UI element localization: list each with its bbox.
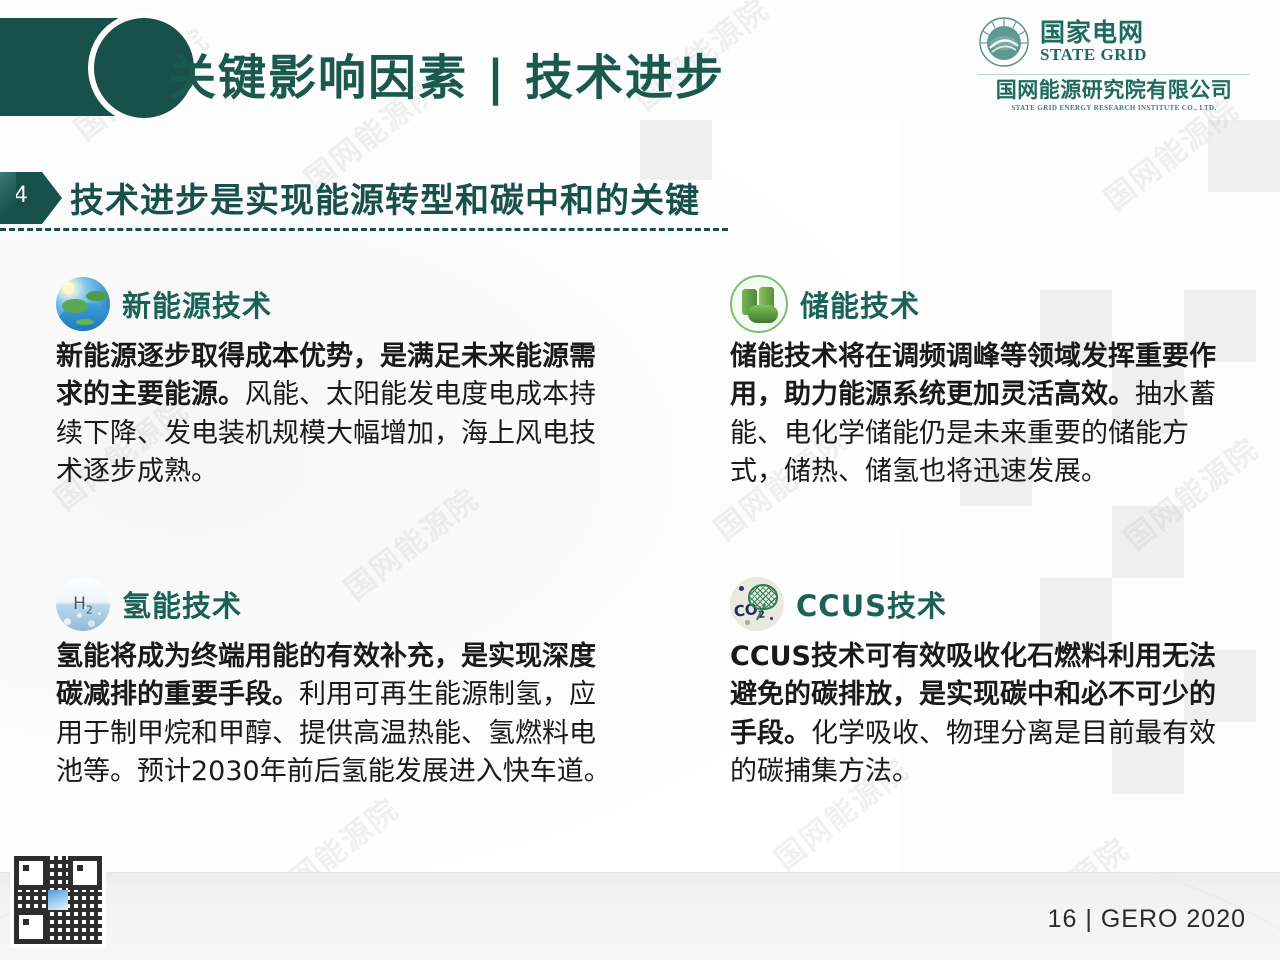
qr-finder-bottom-left — [14, 910, 48, 944]
qr-finder-top-right — [68, 856, 102, 890]
qr-code-pattern — [14, 856, 102, 944]
card-title: 储能技术 — [800, 283, 920, 325]
brand-name-en: STATE GRID — [1040, 46, 1147, 65]
ccus-co2-net-icon: CO2 — [730, 577, 784, 631]
qr-finder-top-left — [14, 856, 48, 890]
card-hydrogen: H2 氢能技术 氢能将成为终端用能的有效补充，是实现深度碳减排的重要手段。利用可… — [56, 576, 616, 791]
battery-storage-icon — [730, 275, 788, 333]
card-title: CCUS技术 — [796, 583, 947, 625]
qr-center-image — [48, 890, 68, 910]
brand-divider — [978, 74, 1250, 75]
card-body: 氢能将成为终端用能的有效补充，是实现深度碳减排的重要手段。利用可再生能源制氢，应… — [56, 638, 616, 791]
brand-name-cn: 国家电网 — [1040, 20, 1147, 46]
card-new-energy: 新能源技术 新能源逐步取得成本优势，是满足未来能源需求的主要能源。风能、太阳能发… — [56, 276, 616, 491]
section-title: 技术进步是实现能源转型和碳中和的关键 — [70, 173, 700, 222]
qr-code[interactable] — [10, 852, 106, 948]
page-number: 16 | GERO 2020 — [1048, 905, 1246, 934]
brand-logo: 国家电网 STATE GRID 国网能源研究院有限公司 STATE GRID E… — [978, 16, 1250, 112]
slide-root: 国网能源院 国网能源院 国网能源院 国网能源院 国网能源院 国网能源院 国网能源… — [0, 0, 1280, 960]
new-energy-globe-icon — [56, 277, 110, 331]
card-body: CCUS技术可有效吸收化石燃料利用无法避免的碳排放，是实现碳中和必不可少的手段。… — [730, 638, 1240, 791]
brand-subsidiary-en: STATE GRID ENERGY RESEARCH INSTITUTE CO.… — [978, 104, 1250, 112]
section-number-badge: 4 — [0, 172, 62, 224]
section-number: 4 — [14, 181, 27, 209]
state-grid-emblem-icon — [978, 16, 1030, 68]
card-ccus: CO2 CCUS技术 CCUS技术可有效吸收化石燃料利用无法避免的碳排放，是实现… — [730, 576, 1240, 791]
brand-subsidiary-cn: 国网能源研究院有限公司 — [978, 79, 1250, 102]
card-energy-storage: 储能技术 储能技术将在调频调峰等领域发挥重要作用，助力能源系统更加灵活高效。抽水… — [730, 276, 1240, 491]
section-divider — [0, 228, 728, 231]
card-body: 新能源逐步取得成本优势，是满足未来能源需求的主要能源。风能、太阳能发电度电成本持… — [56, 338, 616, 491]
card-title: 新能源技术 — [122, 283, 272, 325]
section-heading: 4 技术进步是实现能源转型和碳中和的关键 — [0, 172, 740, 224]
card-title: 氢能技术 — [122, 583, 242, 625]
page-title: 关键影响因素 | 技术进步 — [168, 38, 725, 108]
hydrogen-h2-icon: H2 — [56, 577, 110, 631]
card-body: 储能技术将在调频调峰等领域发挥重要作用，助力能源系统更加灵活高效。抽水蓄能、电化… — [730, 338, 1240, 491]
